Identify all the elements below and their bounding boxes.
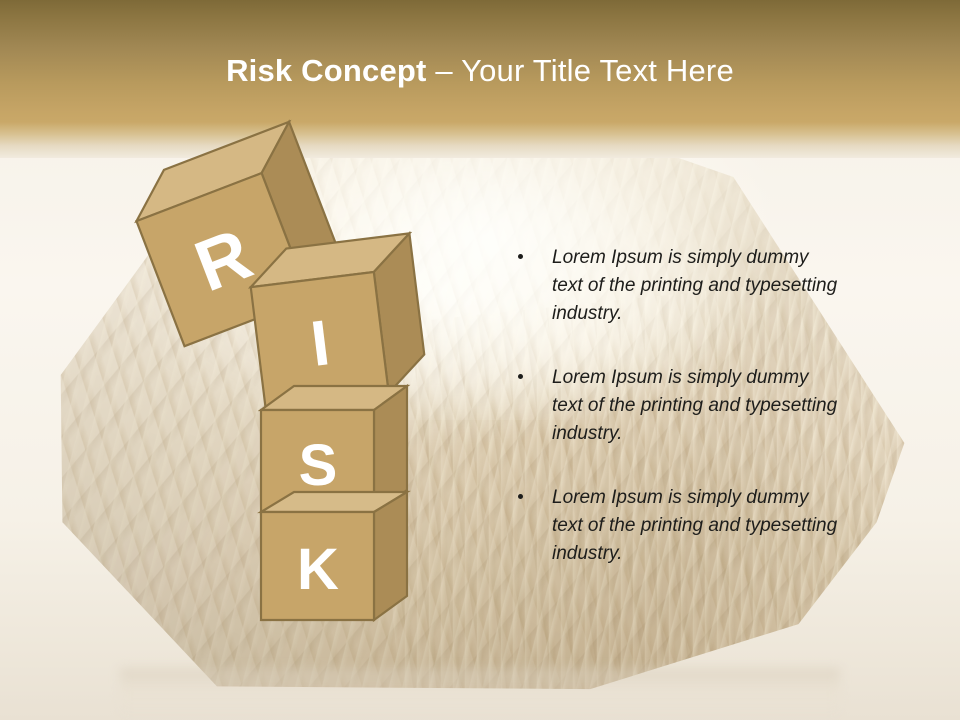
bullet-marker-icon	[518, 374, 523, 379]
bullet-item: Lorem Ipsum is simply dummy text of the …	[512, 364, 842, 448]
crystal-reflection	[120, 668, 840, 720]
bullet-text: Lorem Ipsum is simply dummy text of the …	[552, 247, 837, 324]
bullet-item: Lorem Ipsum is simply dummy text of the …	[512, 484, 842, 568]
title-bar-fade	[0, 122, 960, 158]
page-title-strong: Risk Concept	[226, 53, 427, 88]
bullet-text: Lorem Ipsum is simply dummy text of the …	[552, 367, 837, 444]
page-title: Risk Concept – Your Title Text Here	[0, 54, 960, 88]
bullet-list: Lorem Ipsum is simply dummy text of the …	[512, 244, 842, 568]
cube-side-face	[374, 492, 407, 620]
bullet-item: Lorem Ipsum is simply dummy text of the …	[512, 244, 842, 328]
page-title-rest: – Your Title Text Here	[427, 53, 734, 88]
cube-letter-k: K	[297, 537, 339, 602]
bullet-marker-icon	[518, 254, 523, 259]
bullet-text: Lorem Ipsum is simply dummy text of the …	[552, 487, 837, 564]
cube-letter-s: S	[299, 433, 338, 498]
bullet-marker-icon	[518, 494, 523, 499]
presentation-slide: Risk Concept – Your Title Text Here R	[0, 0, 960, 720]
